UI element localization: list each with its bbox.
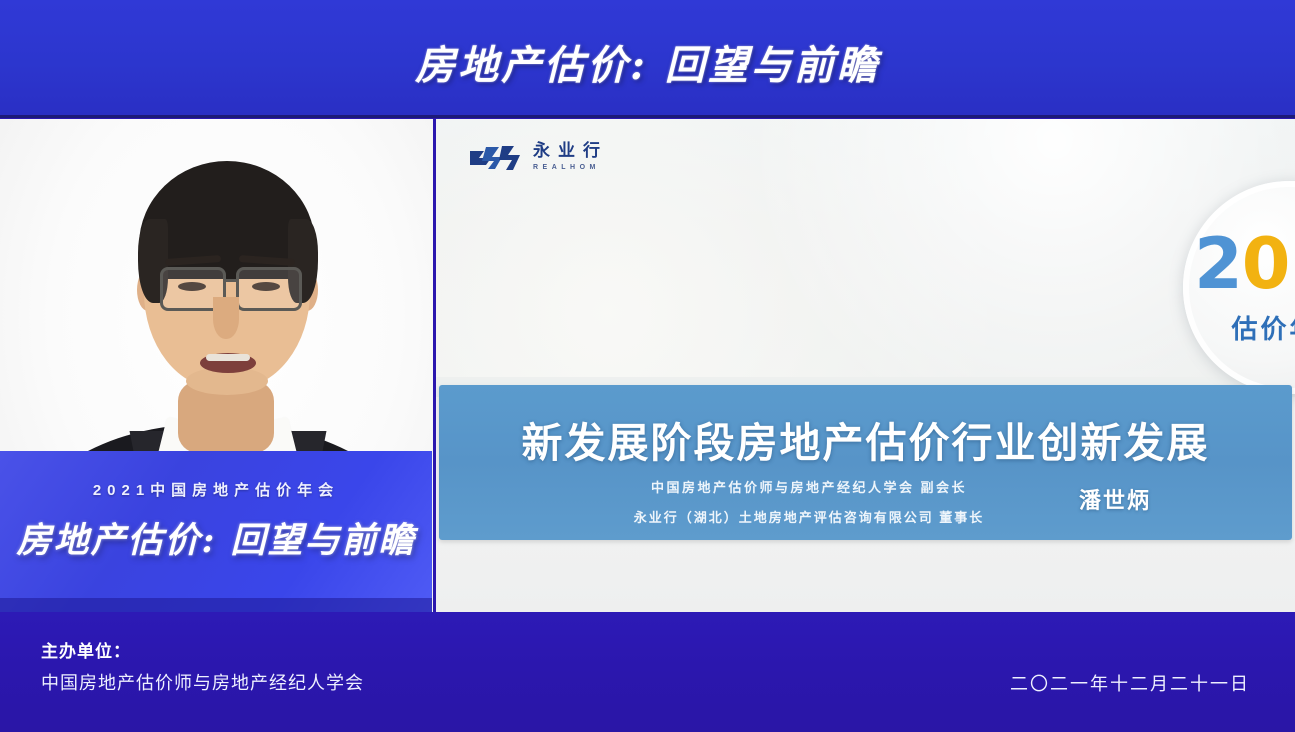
event-footer-banner: 主办单位： 中国房地产估价师与房地产经纪人学会 二〇二一年十二月二十一日 [0,612,1295,732]
yh-monogram-icon [468,143,524,173]
host-organization: 中国房地产估价师与房地产经纪人学会 [41,669,364,695]
slide-title: 新发展阶段房地产估价行业创新发展 [439,409,1292,469]
logo-english-name: REALHOM [533,164,608,171]
lower-third-title: 房地产估价: 回望与前瞻 [0,512,432,563]
speaker-name: 潘世炳 [1025,483,1205,515]
badge-subtitle: 估价年会 [1231,309,1295,346]
badge-digit-2: 2 [1290,229,1295,299]
lower-third-kicker: 2021中国房地产估价年会 [0,479,432,500]
badge-digit-1: 0 [1242,229,1290,299]
speaker-affiliation-line-2: 永业行（湖北）土地房地产评估咨询有限公司 董事长 [549,507,1069,526]
event-date: 二〇二一年十二月二十一日 [1010,670,1250,696]
content-row: 2021中国房地产估价年会 房地产估价: 回望与前瞻 永业行 REALHOM [0,119,1295,612]
badge-year-digits: 2021 [1194,229,1295,299]
page-title: 房地产估价: 回望与前瞻 [0,33,1295,91]
lower-third-overlay: 2021中国房地产估价年会 房地产估价: 回望与前瞻 [0,451,432,612]
broadcast-stage: 房地产估价: 回望与前瞻 [0,0,1295,732]
teeth [206,354,250,361]
host-label: 主办单位： [41,637,131,662]
logo-text: 永业行 REALHOM [533,143,608,171]
eyeglasses-bridge [225,279,238,282]
slide-title-band: 新发展阶段房地产估价行业创新发展 中国房地产估价师与房地产经纪人学会 副会长 永… [439,385,1292,540]
speaker-video-panel[interactable]: 2021中国房地产估价年会 房地产估价: 回望与前瞻 [0,119,433,612]
badge-digit-0: 2 [1194,229,1242,299]
nose [213,297,239,339]
event-header-banner: 房地产估价: 回望与前瞻 [0,0,1295,118]
eyeglasses-lens-right [236,267,302,311]
company-logo: 永业行 REALHOM [468,143,608,173]
presentation-slide-panel[interactable]: 永业行 REALHOM 2021 估价年会 新发展阶段房地产估价行业创新发展 中… [436,119,1295,612]
logo-chinese-name: 永业行 [533,143,608,161]
slide-background-lower [436,539,1295,612]
speaker-affiliation-line-1: 中国房地产估价师与房地产经纪人学会 副会长 [549,477,1069,496]
